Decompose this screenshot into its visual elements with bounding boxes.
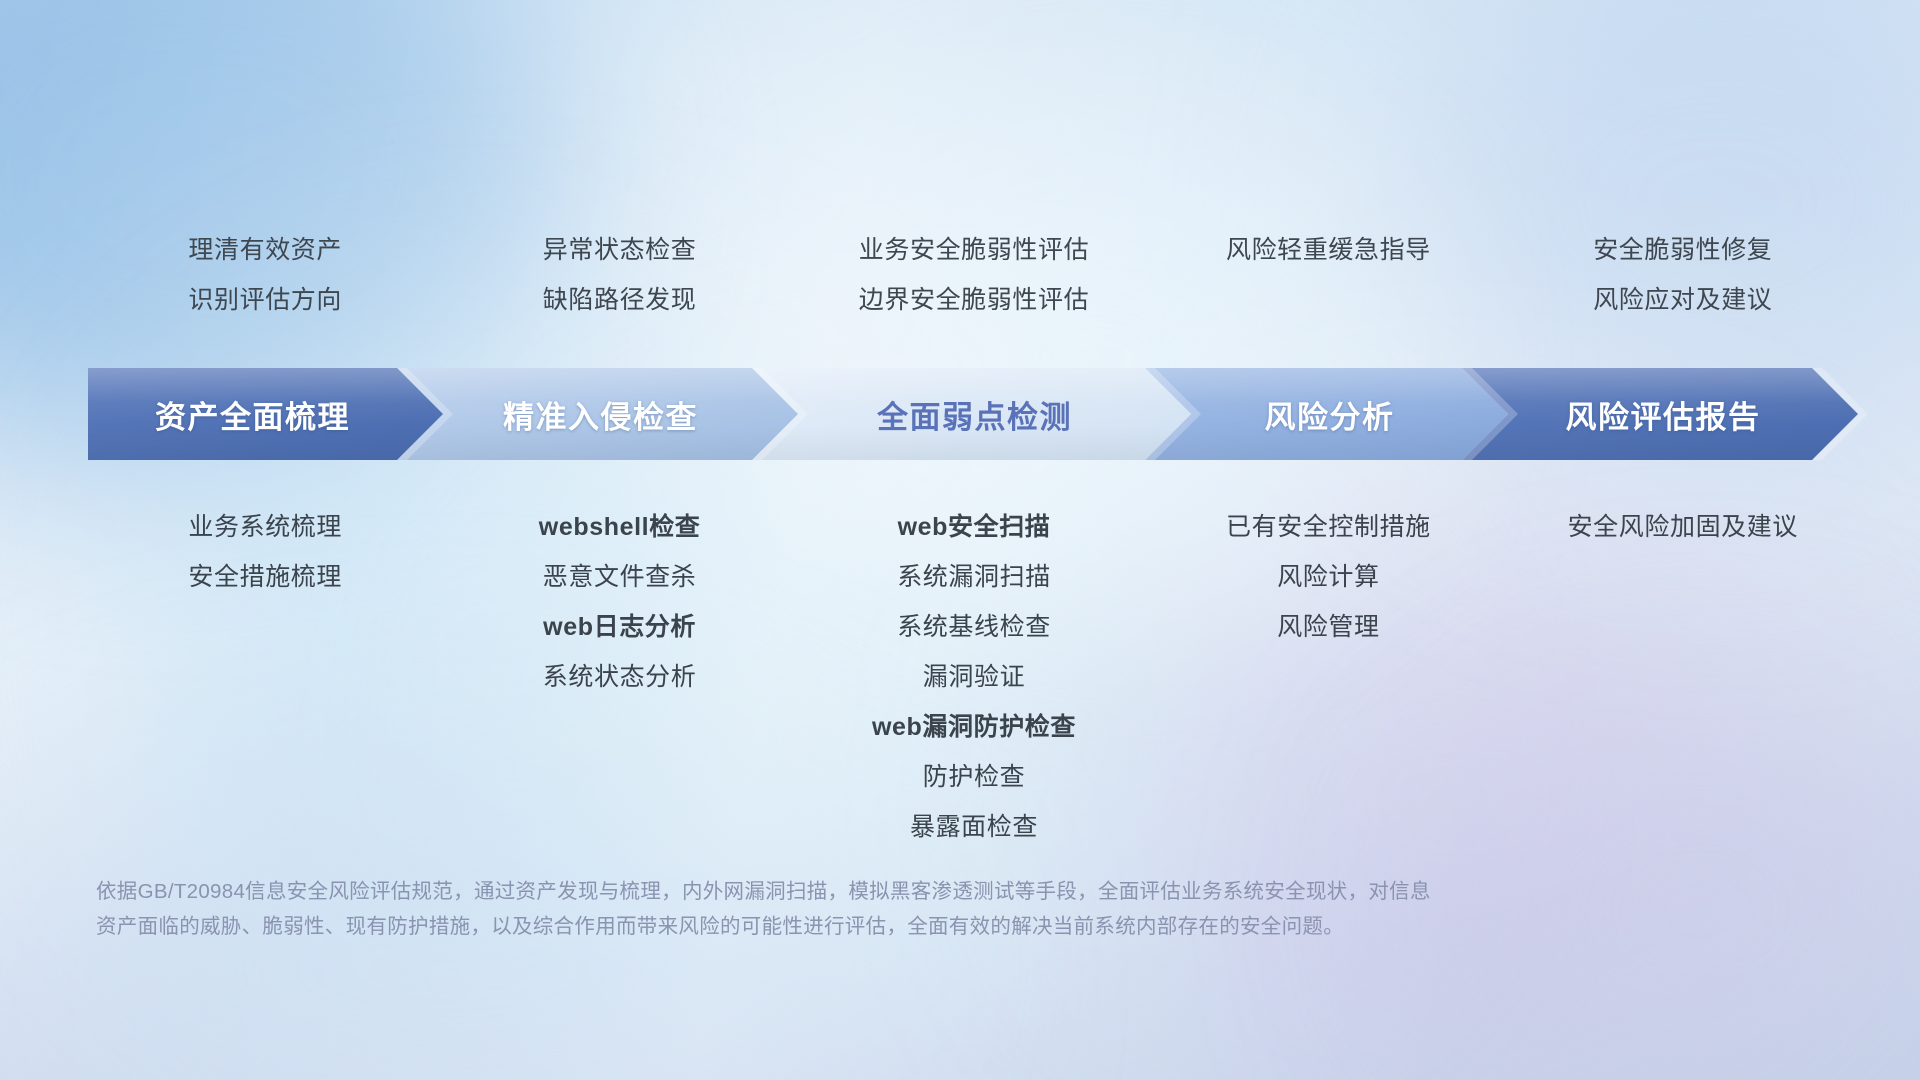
process-chevron-band: 资产全面梳理精准入侵检查全面弱点检测风险分析风险评估报告 <box>88 368 1858 460</box>
top-outcome-item: 业务安全脆弱性评估 <box>797 225 1151 275</box>
bottom-activity-item: 恶意文件查杀 <box>442 552 796 602</box>
stage-title: 风险评估报告 <box>1566 392 1761 437</box>
top-outcome-item: 风险应对及建议 <box>1506 275 1860 325</box>
top-outcome-item: 风险轻重缓急指导 <box>1151 225 1505 275</box>
bottom-activity-column: 业务系统梳理安全措施梳理 <box>88 502 442 852</box>
top-outcome-column: 风险轻重缓急指导 <box>1151 225 1505 325</box>
top-outcomes-row: 理清有效资产识别评估方向异常状态检查缺陷路径发现业务安全脆弱性评估边界安全脆弱性… <box>88 225 1860 325</box>
stage-title: 全面弱点检测 <box>877 392 1072 437</box>
bottom-activities-row: 业务系统梳理安全措施梳理webshell检查恶意文件查杀web日志分析系统状态分… <box>88 502 1860 852</box>
bottom-activity-column: web安全扫描系统漏洞扫描系统基线检查漏洞验证web漏洞防护检查防护检查暴露面检… <box>797 502 1151 852</box>
bottom-activity-item: 暴露面检查 <box>797 802 1151 852</box>
bottom-activity-item: webshell检查 <box>442 502 796 552</box>
stage-title: 资产全面梳理 <box>155 392 350 437</box>
bottom-activity-item: 系统漏洞扫描 <box>797 552 1151 602</box>
bottom-activity-item: 系统基线检查 <box>797 602 1151 652</box>
slide-canvas: 理清有效资产识别评估方向异常状态检查缺陷路径发现业务安全脆弱性评估边界安全脆弱性… <box>0 0 1920 1080</box>
bottom-activity-item: web漏洞防护检查 <box>797 702 1151 752</box>
bottom-activity-item: web安全扫描 <box>797 502 1151 552</box>
bottom-activity-item: 风险管理 <box>1151 602 1505 652</box>
bottom-activity-item: 防护检查 <box>797 752 1151 802</box>
top-outcome-item: 识别评估方向 <box>88 275 442 325</box>
process-stage-5[interactable]: 风险评估报告 <box>1462 368 1858 460</box>
footer-description: 依据GB/T20984信息安全风险评估规范，通过资产发现与梳理，内外网漏洞扫描，… <box>96 874 1696 944</box>
top-outcome-item: 异常状态检查 <box>442 225 796 275</box>
process-stage-2[interactable]: 精准入侵检查 <box>397 368 798 460</box>
bottom-activity-item: 安全措施梳理 <box>88 552 442 602</box>
bottom-activity-item: 安全风险加固及建议 <box>1506 502 1860 552</box>
bottom-activity-column: 安全风险加固及建议 <box>1506 502 1860 852</box>
bottom-activity-item: 已有安全控制措施 <box>1151 502 1505 552</box>
footer-line-2: 资产面临的威胁、脆弱性、现有防护措施，以及综合作用而带来风险的可能性进行评估，全… <box>96 909 1696 944</box>
top-outcome-item: 安全脆弱性修复 <box>1506 225 1860 275</box>
stage-title: 风险分析 <box>1265 392 1395 437</box>
top-outcome-column: 业务安全脆弱性评估边界安全脆弱性评估 <box>797 225 1151 325</box>
process-stage-3[interactable]: 全面弱点检测 <box>752 368 1191 460</box>
bottom-activity-item: 系统状态分析 <box>442 652 796 702</box>
bottom-activity-column: webshell检查恶意文件查杀web日志分析系统状态分析 <box>442 502 796 852</box>
top-outcome-item: 缺陷路径发现 <box>442 275 796 325</box>
bottom-activity-item: 风险计算 <box>1151 552 1505 602</box>
bottom-activity-item: 业务系统梳理 <box>88 502 442 552</box>
top-outcome-item: 理清有效资产 <box>88 225 442 275</box>
bottom-activity-item: 漏洞验证 <box>797 652 1151 702</box>
top-outcome-item: 边界安全脆弱性评估 <box>797 275 1151 325</box>
top-outcome-column: 异常状态检查缺陷路径发现 <box>442 225 796 325</box>
bottom-activity-item: web日志分析 <box>442 602 796 652</box>
process-stage-1[interactable]: 资产全面梳理 <box>88 368 443 460</box>
bottom-activity-column: 已有安全控制措施风险计算风险管理 <box>1151 502 1505 852</box>
top-outcome-column: 理清有效资产识别评估方向 <box>88 225 442 325</box>
footer-line-1: 依据GB/T20984信息安全风险评估规范，通过资产发现与梳理，内外网漏洞扫描，… <box>96 874 1696 909</box>
stage-title: 精准入侵检查 <box>503 392 698 437</box>
top-outcome-column: 安全脆弱性修复风险应对及建议 <box>1506 225 1860 325</box>
